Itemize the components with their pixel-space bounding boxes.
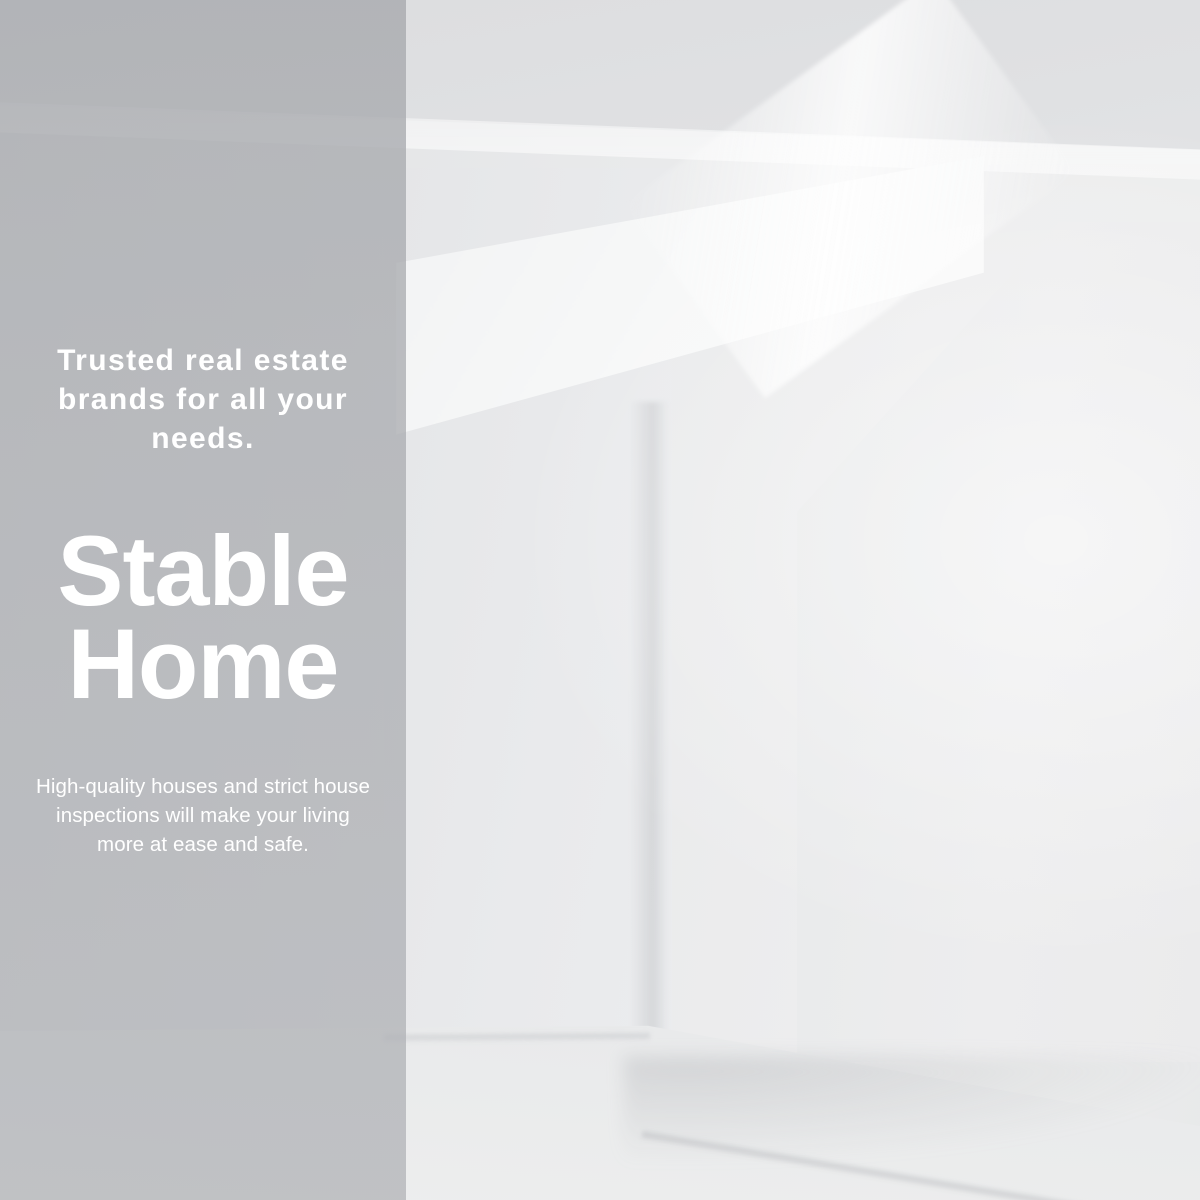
page-title: Stable Home [34,458,372,772]
poster-canvas: Trusted real estate brands for all your … [0,0,1200,1200]
page-title-line-2: Home [34,617,372,710]
eyebrow-heading: Trusted real estate brands for all your … [34,341,372,458]
body-paragraph: High-quality houses and strict house ins… [34,772,372,859]
page-title-line-1: Stable [34,524,372,617]
text-content-column: Trusted real estate brands for all your … [0,0,406,1200]
